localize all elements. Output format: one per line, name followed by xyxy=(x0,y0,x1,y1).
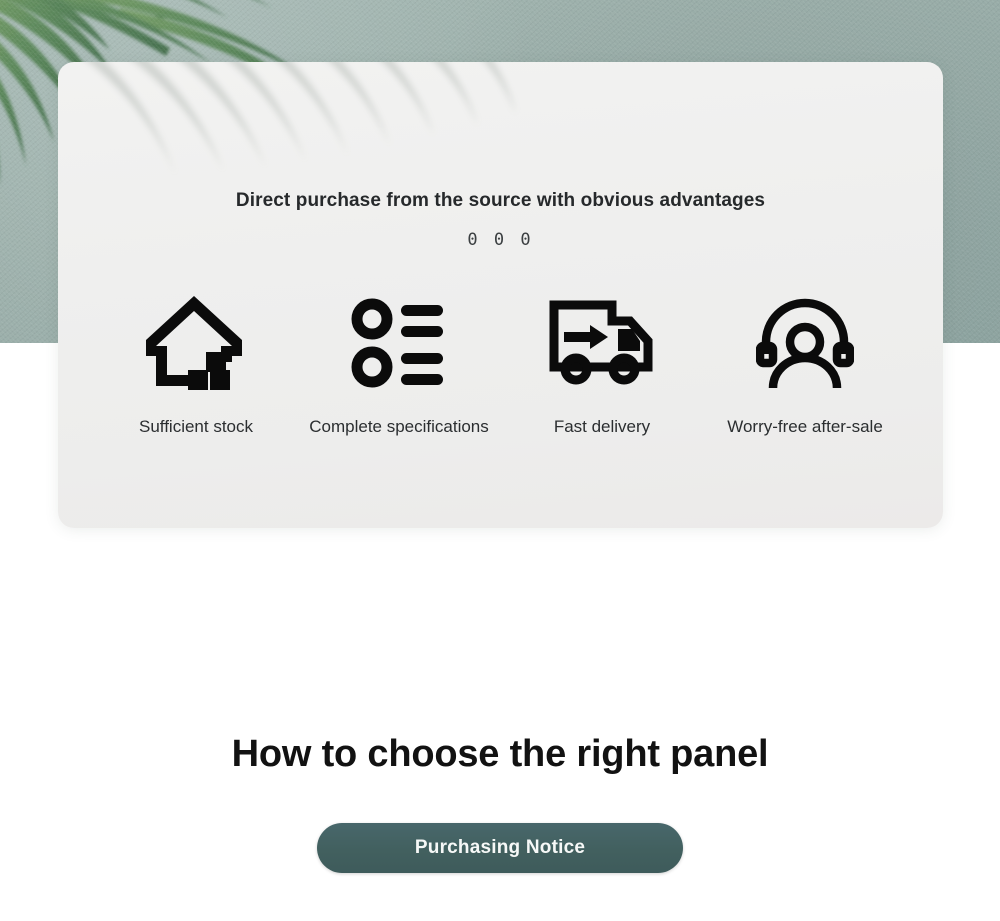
feature-item-complete-specifications[interactable]: Complete specifications xyxy=(301,287,497,437)
cta-container: Purchasing Notice xyxy=(0,823,1000,873)
feature-label: Fast delivery xyxy=(554,417,650,437)
purchasing-notice-button[interactable]: Purchasing Notice xyxy=(317,823,683,873)
card-subtitle: 0 0 0 xyxy=(58,230,943,250)
feature-item-sufficient-stock[interactable]: Sufficient stock xyxy=(98,287,294,437)
feature-list: Sufficient stock xyxy=(98,287,903,437)
customer-support-headset-icon xyxy=(756,287,854,399)
list-icon xyxy=(351,287,447,399)
advantages-card: Direct purchase from the source with obv… xyxy=(58,62,943,528)
section-heading: How to choose the right panel xyxy=(0,733,1000,776)
feature-item-fast-delivery[interactable]: Fast delivery xyxy=(504,287,700,437)
feature-label: Sufficient stock xyxy=(139,417,253,437)
feature-item-worry-free-after-sale[interactable]: Worry-free after-sale xyxy=(707,287,903,437)
warehouse-icon xyxy=(144,287,248,399)
feature-label: Complete specifications xyxy=(309,417,489,437)
feature-label: Worry-free after-sale xyxy=(727,417,883,437)
card-title: Direct purchase from the source with obv… xyxy=(58,190,943,212)
delivery-truck-icon xyxy=(548,287,656,399)
